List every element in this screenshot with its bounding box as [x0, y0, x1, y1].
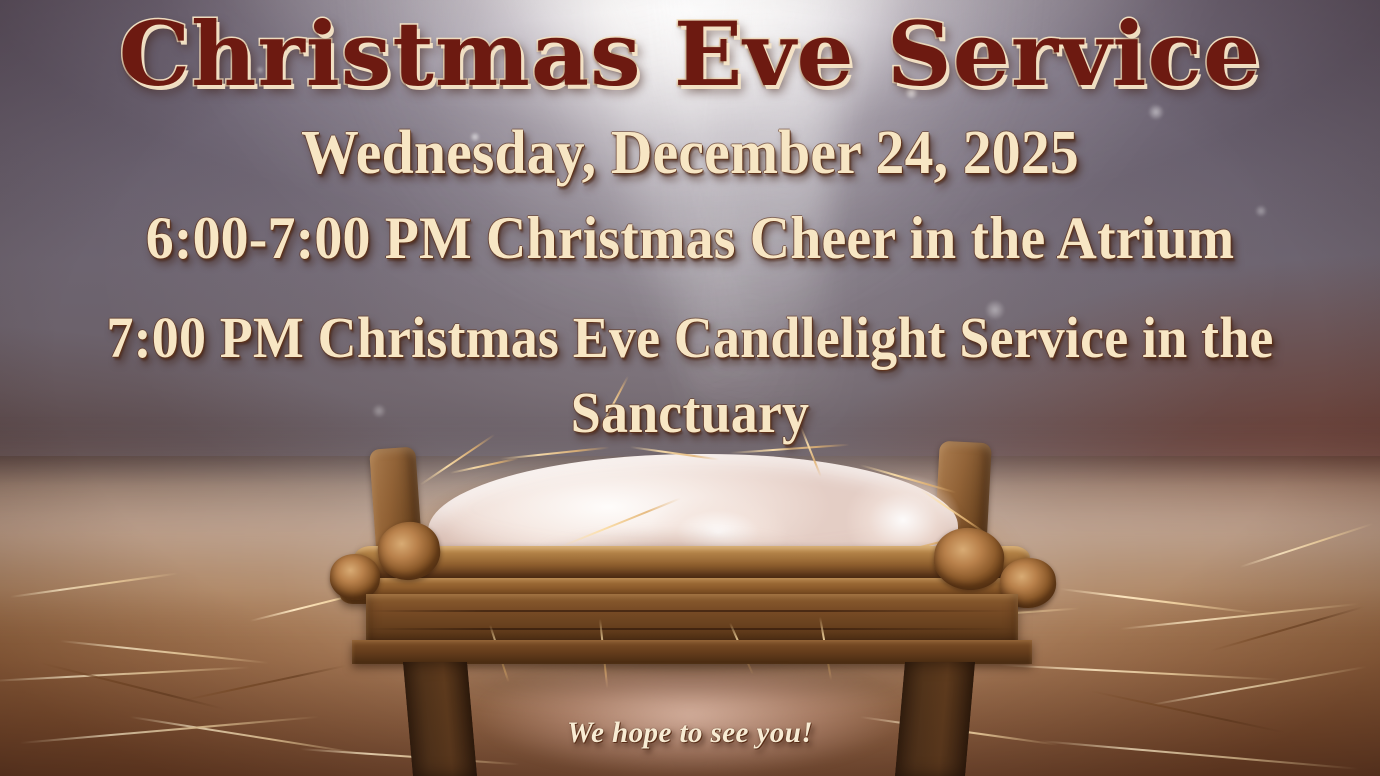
closing-message: We hope to see you!: [21, 716, 1360, 750]
page-title: Christmas Eve Service: [0, 8, 1380, 100]
service-date: Wednesday, December 24, 2025: [48, 118, 1331, 189]
event-line-candlelight-service: 7:00 PM Christmas Eve Candlelight Servic…: [48, 300, 1331, 451]
slide-copy: Christmas Eve Service Wednesday, Decembe…: [0, 0, 1380, 776]
event-line-christmas-cheer: 6:00-7:00 PM Christmas Cheer in the Atri…: [48, 204, 1331, 273]
christmas-eve-service-slide: Christmas Eve Service Wednesday, Decembe…: [0, 0, 1380, 776]
